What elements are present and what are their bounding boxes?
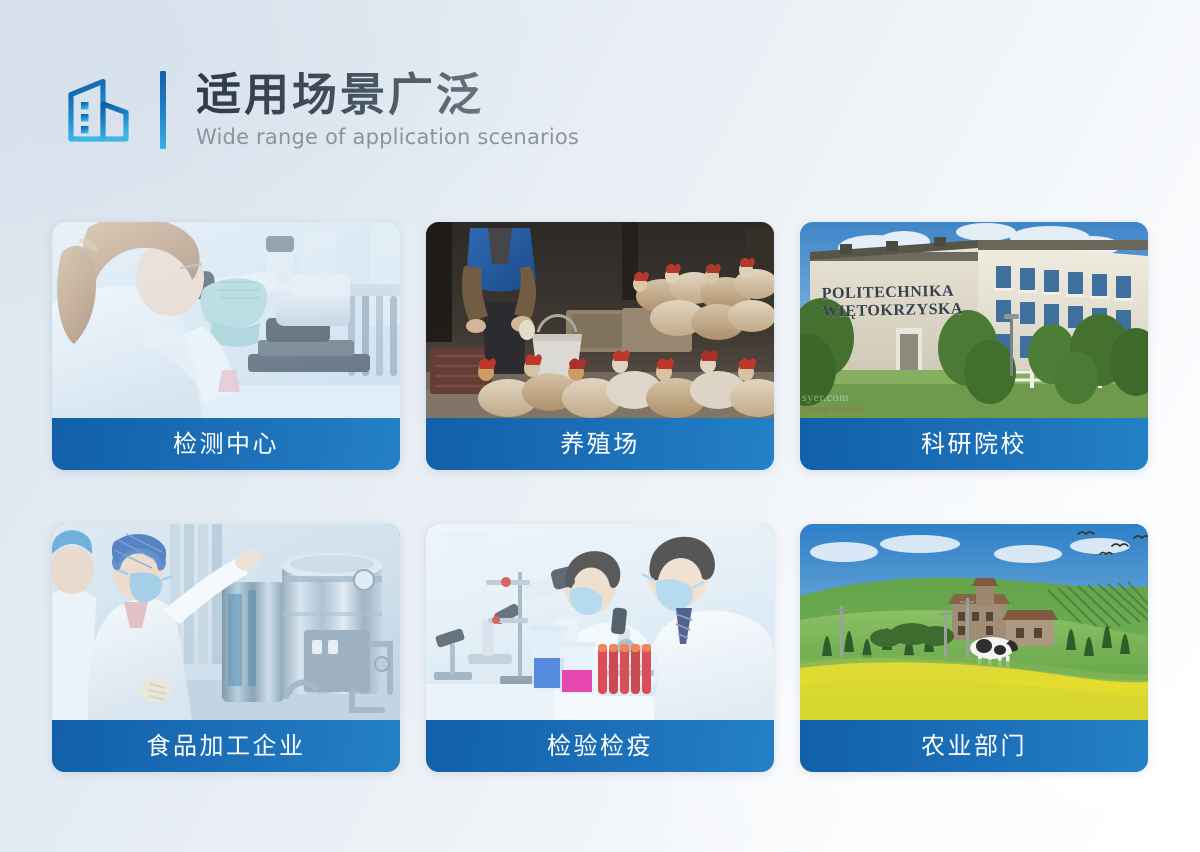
card-label-detection-center: 检测中心	[52, 418, 400, 470]
scenario-card-research-institute[interactable]: POLITECHNIKA WIĘTOKRZYSKA syer.com 素材免费下…	[800, 222, 1148, 470]
scenario-card-agriculture-department[interactable]: 农业部门	[800, 524, 1148, 772]
photo-university-campus-building: POLITECHNIKA WIĘTOKRZYSKA syer.com 素材免费下…	[800, 222, 1148, 418]
header-divider	[160, 71, 166, 149]
scenario-card-inspection-quarantine[interactable]: 检验检疫	[426, 524, 774, 772]
photo-food-processing-plant	[52, 524, 400, 720]
page-root: 适用场景广泛 Wide range of application scenari…	[0, 0, 1200, 852]
scenario-card-detection-center[interactable]: 检测中心	[52, 222, 400, 470]
photo-lab-microscope-scientist	[52, 222, 400, 418]
building-icon	[62, 73, 136, 147]
card-label-breeding-farm: 养殖场	[426, 418, 774, 470]
card-label-inspection-quarantine: 检验检疫	[426, 720, 774, 772]
card-label-research-institute: 科研院校	[800, 418, 1148, 470]
page-subtitle: Wide range of application scenarios	[196, 125, 579, 149]
section-header: 适用场景广泛 Wide range of application scenari…	[62, 58, 579, 162]
header-text-block: 适用场景广泛 Wide range of application scenari…	[196, 71, 579, 150]
photo-agriculture-countryside	[800, 524, 1148, 720]
scenario-card-grid: 检测中心	[52, 222, 1148, 772]
card-label-food-processing: 食品加工企业	[52, 720, 400, 772]
scenario-card-breeding-farm[interactable]: 养殖场	[426, 222, 774, 470]
photo-inspection-quarantine-lab	[426, 524, 774, 720]
scenario-card-food-processing[interactable]: 食品加工企业	[52, 524, 400, 772]
card-label-agriculture-department: 农业部门	[800, 720, 1148, 772]
photo-poultry-farm-chickens	[426, 222, 774, 418]
page-title: 适用场景广泛	[196, 71, 579, 120]
